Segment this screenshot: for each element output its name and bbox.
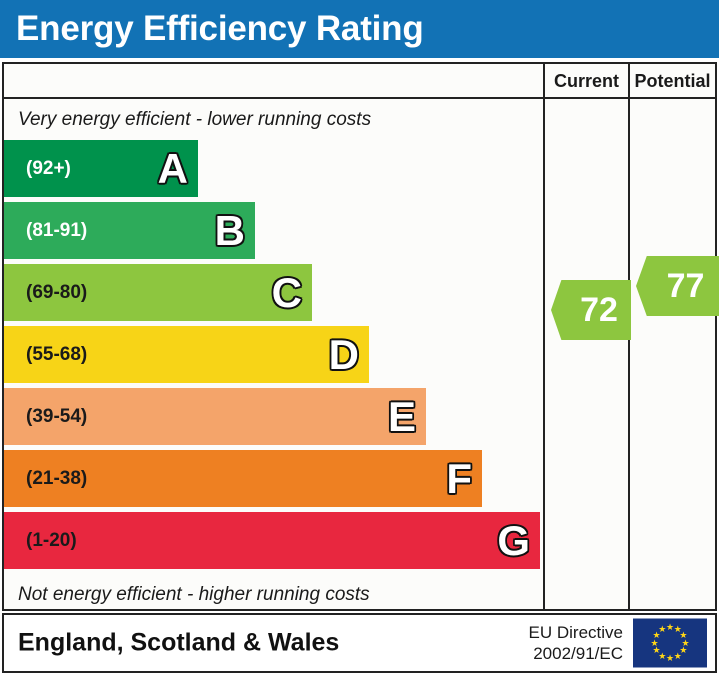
directive-line-2: 2002/91/EC: [529, 643, 623, 664]
column-header-potential: Potential: [630, 64, 715, 99]
band-letter-a: A: [158, 148, 188, 190]
rating-bands: (92+)A(81-91)B(69-80)C(55-68)D(39-54)E(2…: [4, 140, 543, 575]
band-letter-f: F: [446, 458, 472, 500]
rating-band-f: (21-38)F: [4, 450, 482, 507]
eu-flag-star: ★: [673, 652, 682, 661]
footer-region-label: England, Scotland & Wales: [18, 629, 339, 658]
page-title: Energy Efficiency Rating: [16, 9, 424, 49]
column-header-current: Current: [545, 64, 628, 99]
eu-flag-star: ★: [658, 625, 667, 634]
rating-band-a: (92+)A: [4, 140, 198, 197]
eu-flag-star: ★: [666, 654, 675, 663]
potential-rating-marker: 77: [636, 256, 719, 316]
band-range-d: (55-68): [26, 344, 87, 366]
eu-flag-icon: ★★★★★★★★★★★★: [633, 619, 707, 668]
rating-band-c: (69-80)C: [4, 264, 312, 321]
band-letter-e: E: [388, 396, 416, 438]
rating-table: Current Potential Very energy efficient …: [2, 62, 717, 611]
column-divider-current: [543, 64, 545, 609]
band-letter-c: C: [272, 272, 302, 314]
eu-flag-star: ★: [652, 646, 661, 655]
rating-band-g: (1-20)G: [4, 512, 540, 569]
table-header-row: Current Potential: [4, 64, 715, 99]
band-range-g: (1-20): [26, 530, 77, 552]
eu-flag-star: ★: [650, 639, 659, 648]
band-letter-b: B: [215, 210, 245, 252]
rating-band-b: (81-91)B: [4, 202, 255, 259]
title-banner: Energy Efficiency Rating: [0, 0, 719, 58]
band-range-c: (69-80): [26, 282, 87, 304]
caption-inefficient: Not energy efficient - higher running co…: [18, 584, 370, 606]
band-range-f: (21-38): [26, 468, 87, 490]
band-letter-g: G: [497, 520, 530, 562]
band-letter-d: D: [329, 334, 359, 376]
footer: England, Scotland & Wales EU Directive 2…: [2, 613, 717, 673]
caption-efficient: Very energy efficient - lower running co…: [18, 109, 371, 131]
current-rating-marker: 72: [551, 280, 631, 340]
energy-efficiency-rating-chart: Energy Efficiency Rating Current Potenti…: [0, 0, 719, 675]
rating-band-e: (39-54)E: [4, 388, 426, 445]
band-range-a: (92+): [26, 158, 71, 180]
band-range-e: (39-54): [26, 406, 87, 428]
directive-line-1: EU Directive: [529, 622, 623, 643]
footer-directive: EU Directive 2002/91/EC: [529, 622, 623, 665]
rating-band-d: (55-68)D: [4, 326, 369, 383]
band-range-b: (81-91): [26, 220, 87, 242]
